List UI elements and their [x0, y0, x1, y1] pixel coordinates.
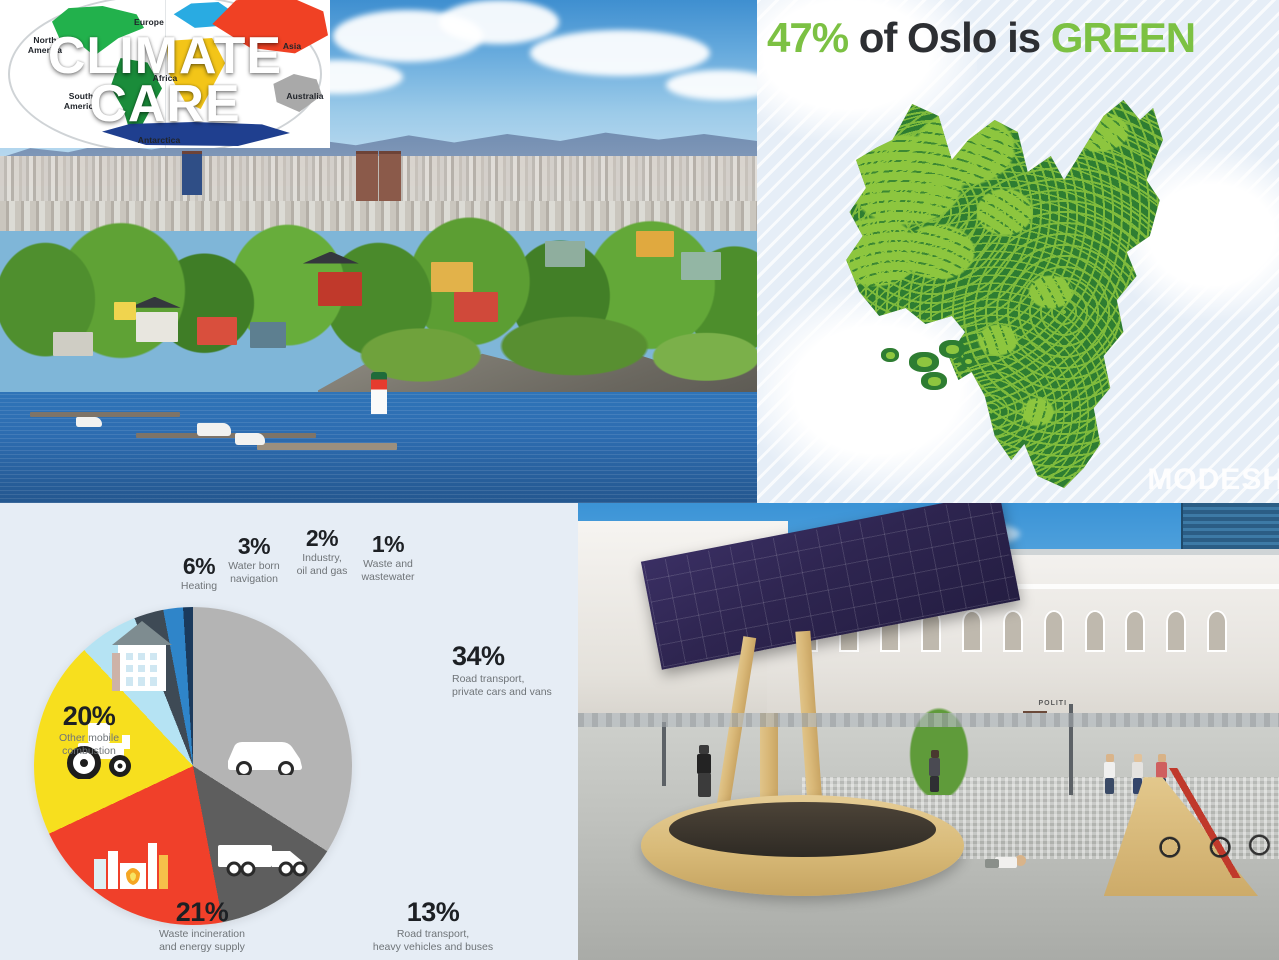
label-antarctica: Antarctica [124, 136, 194, 146]
pie-label-34: 34% Road transport, private cars and van… [452, 643, 576, 698]
climate-care-logo: North America South America Europe Asia … [0, 0, 330, 148]
headline-green-word: GREEN [1051, 14, 1195, 61]
watermark: MODESH [1147, 463, 1279, 497]
house [636, 231, 674, 257]
house [114, 302, 136, 320]
pie-label-1-pct: 1% [336, 533, 440, 556]
house [681, 252, 721, 280]
island-shape [921, 372, 947, 390]
politi-sign: POLITI [1038, 700, 1067, 707]
arched-window [1207, 610, 1227, 652]
car-icon [222, 735, 308, 775]
person-torso [929, 758, 940, 776]
person-head [931, 750, 939, 758]
person-standing [929, 750, 940, 792]
lighthouse [371, 372, 387, 414]
boat [197, 423, 231, 436]
cloud-icon [530, 30, 710, 76]
person-head [699, 745, 709, 754]
skyline-tower [182, 151, 202, 195]
factory-icon [92, 835, 174, 891]
lamp-post [662, 722, 666, 786]
arched-window [1125, 610, 1145, 652]
house [136, 312, 178, 342]
person-legs [698, 773, 711, 797]
person-torso [1104, 762, 1115, 778]
arched-window [962, 610, 982, 652]
parked-bicycles [1139, 768, 1279, 878]
house [197, 317, 237, 345]
distant-crowd [578, 713, 1279, 727]
person-lying-on-bench [985, 855, 1027, 869]
person-head [1158, 754, 1166, 762]
pie-label-13: 13% Road transport, heavy vehicles and b… [338, 899, 528, 953]
arched-window [1166, 610, 1186, 652]
pie-label-1: 1% Waste and wastewater [336, 533, 440, 583]
island-shape [961, 356, 975, 367]
emissions-pie-chart-panel: 6% Heating 3% Water born navigation 2% I… [0, 503, 578, 960]
island-shape [939, 340, 965, 358]
shore-vegetation [333, 292, 757, 383]
island-shape [881, 348, 899, 362]
pie-chart [34, 607, 352, 925]
pie-label-21-desc: Waste incineration and energy supply [112, 928, 292, 953]
arched-window [1044, 610, 1064, 652]
island-shape [909, 352, 939, 372]
dock [30, 412, 180, 417]
arched-window [1003, 610, 1023, 652]
house [250, 322, 286, 348]
oslo-green-panel: 47% of Oslo is GREEN MODESH [757, 0, 1279, 503]
person-walking [697, 745, 711, 797]
pier [257, 443, 397, 450]
house [53, 332, 93, 356]
headline-percent: 47% [767, 14, 848, 61]
pie-label-34-desc: Road transport, private cars and vans [452, 673, 572, 698]
pie-label-20: 20% Other mobile combustion [30, 703, 148, 757]
person-legs [985, 859, 999, 868]
person-torso [697, 754, 711, 774]
headline-middle: of Oslo is [848, 14, 1051, 61]
pie-label-13-desc: Road transport, heavy vehicles and buses [338, 928, 528, 953]
pie-label-21: 21% Waste incineration and energy supply [112, 899, 292, 953]
solar-tree-photo: POLITI [578, 503, 1279, 960]
house [431, 262, 473, 292]
green-headline: 47% of Oslo is GREEN [767, 14, 1277, 62]
person-head [1106, 754, 1114, 762]
person-legs [1105, 778, 1114, 794]
person-legs [930, 776, 939, 792]
boat [235, 433, 265, 445]
pie-label-13-pct: 13% [338, 899, 528, 926]
logo-word-care: CARE [0, 74, 330, 134]
pie-label-21-pct: 21% [112, 899, 292, 926]
cloud-icon [439, 0, 559, 44]
arched-window [1085, 610, 1105, 652]
pie-label-34-pct: 34% [452, 643, 576, 670]
house [545, 241, 585, 267]
pie-label-20-desc: Other mobile combustion [30, 732, 148, 757]
boat [76, 417, 102, 427]
pie-label-1-desc: Waste and wastewater [336, 558, 440, 583]
truck-icon [214, 839, 310, 877]
person-head [1134, 754, 1142, 762]
house-icon [110, 619, 174, 693]
pie-label-20-pct: 20% [30, 703, 148, 730]
person-standing [1104, 754, 1115, 794]
collage-root: North America South America Europe Asia … [0, 0, 1279, 960]
bench-inner-shadow [669, 802, 935, 857]
